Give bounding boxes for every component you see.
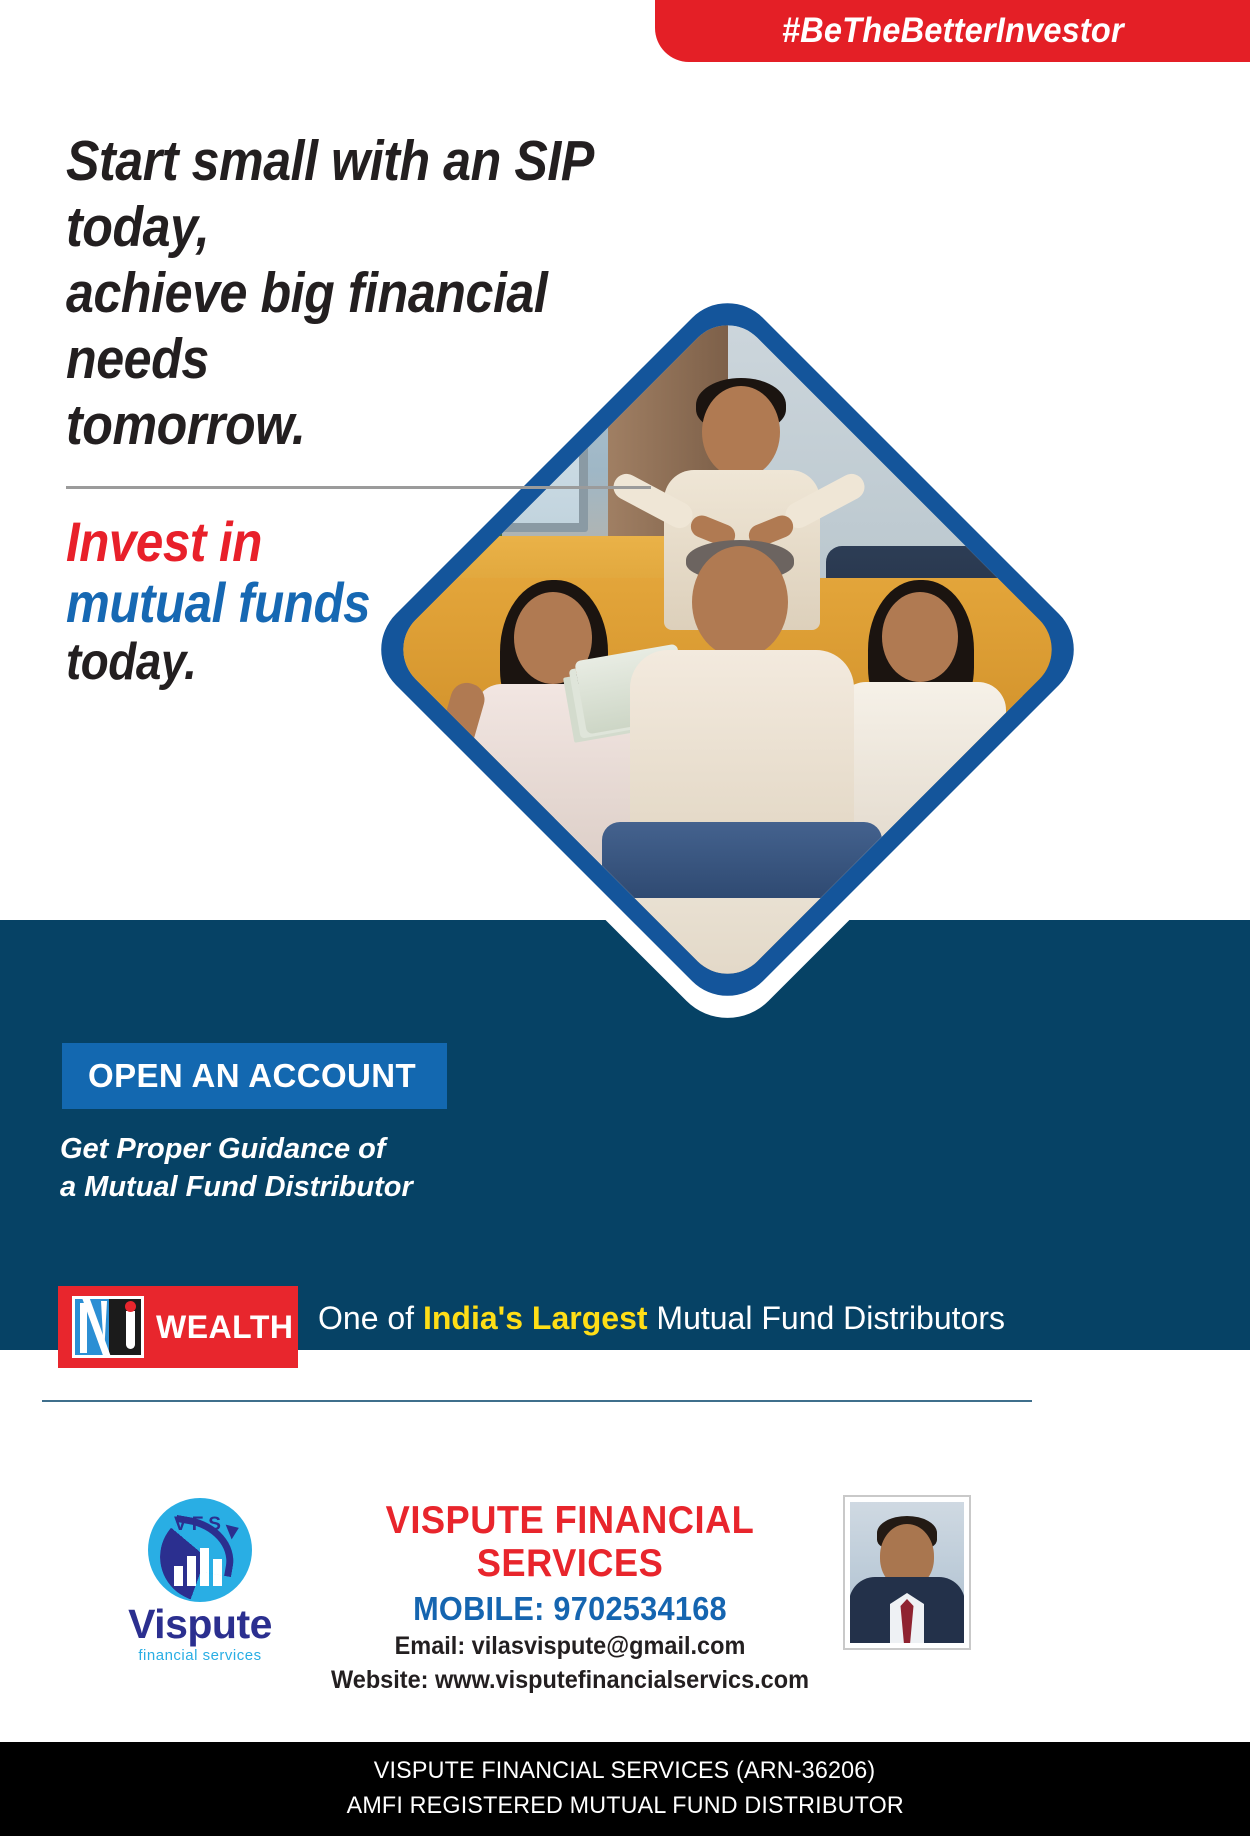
company-name: VISPUTE FINANCIAL SERVICES (319, 1500, 821, 1586)
headline-line-1: Start small with an SIP today, (66, 128, 682, 260)
headline-line-3: tomorrow. (66, 392, 682, 458)
subheadline-mutual-funds: mutual funds (66, 572, 682, 634)
panel-divider (42, 1400, 1032, 1402)
hero-text-block: Start small with an SIP today, achieve b… (66, 128, 766, 691)
nj-monogram-icon (72, 1296, 144, 1358)
open-an-account-button[interactable]: OPEN AN ACCOUNT (62, 1043, 447, 1109)
tagline-after: Mutual Fund Distributors (648, 1300, 1005, 1336)
portrait-image (850, 1502, 964, 1643)
hero-divider (66, 486, 651, 489)
vispute-logo: VFS Vispute financial services (100, 1498, 300, 1664)
vispute-badge-icon: VFS (148, 1498, 252, 1602)
legal-line-1: VISPUTE FINANCIAL SERVICES (ARN-36206) (374, 1754, 876, 1789)
vfs-initials: VFS (148, 1514, 252, 1536)
nj-j-letter (126, 1311, 135, 1349)
head (882, 592, 958, 682)
guidance-line-2: a Mutual Fund Distributor (60, 1168, 580, 1206)
email-address[interactable]: Email: vilasvispute@gmail.com (316, 1630, 824, 1663)
contact-block: VISPUTE FINANCIAL SERVICES MOBILE: 97025… (300, 1500, 840, 1697)
advisor-portrait (843, 1495, 971, 1650)
tagline-before: One of (318, 1300, 423, 1336)
vispute-wordmark: Vispute (100, 1604, 300, 1645)
vispute-tagline: financial services (100, 1647, 300, 1664)
nj-v-wedge (101, 1301, 107, 1355)
guidance-text: Get Proper Guidance of a Mutual Fund Dis… (60, 1130, 580, 1207)
subheadline-invest-in: Invest in (66, 511, 682, 573)
risk-disclaimer: Mutual Fund investments are subject to m… (0, 1414, 1080, 1442)
subheadline-today: today. (66, 634, 682, 691)
headline-line-2: achieve big financial needs (66, 260, 682, 392)
nj-wealth-word: WEALTH (156, 1309, 293, 1346)
tagline-highlight: India's Largest (423, 1300, 648, 1336)
guidance-line-1: Get Proper Guidance of (60, 1130, 580, 1168)
nj-n-stem (80, 1303, 87, 1353)
hashtag-banner: #BeTheBetterInvestor (655, 0, 1250, 62)
hashtag-text: #BeTheBetterInvestor (781, 11, 1123, 51)
mobile-number[interactable]: MOBILE: 9702534168 (319, 1590, 821, 1628)
nj-wealth-logo: WEALTH (58, 1286, 298, 1368)
bottom-legal-bar: VISPUTE FINANCIAL SERVICES (ARN-36206) A… (0, 1742, 1250, 1836)
cta-label: OPEN AN ACCOUNT (62, 1057, 416, 1095)
website-url[interactable]: Website: www.visputefinancialservics.com (316, 1664, 824, 1697)
legal-line-2: AMFI REGISTERED MUTUAL FUND DISTRIBUTOR (346, 1789, 903, 1824)
nj-j-dot (125, 1301, 136, 1312)
nj-tagline: One of India's Largest Mutual Fund Distr… (318, 1300, 1005, 1337)
